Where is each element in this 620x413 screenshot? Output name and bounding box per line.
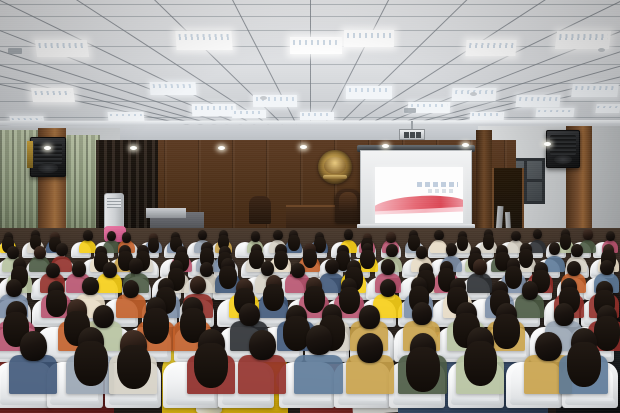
audience-person-head [347,260,361,276]
audience-person-head [597,305,618,328]
audience-person-head [325,259,339,275]
left-wall-speaker [30,137,66,177]
audience-person-head [304,243,316,256]
audience-person-head [456,302,477,325]
audience-person-head [381,259,395,275]
audience-person-head [357,333,383,363]
ceiling-tile-seam [0,4,620,5]
audience-person-head [571,328,597,358]
audience-person-head [412,302,433,325]
audience-person-head [273,230,282,240]
ceiling-sign-box [399,129,425,140]
ceiling-tile-seam [0,83,620,84]
audience-person-head [571,244,583,257]
audience-person-head [289,230,298,240]
light-diffuser [559,34,607,39]
audience-person-head [34,246,46,259]
audience-person-head [266,275,282,293]
ceiling-light-panel [571,84,619,97]
ceiling-light-panel [175,31,232,50]
soffit-downlight [300,145,307,149]
audience-person-head [93,305,114,328]
audience-person-head [122,232,131,242]
audience-person-head [146,297,167,320]
chair-cover-fold [222,398,271,405]
audience-person-head [322,304,343,327]
ceiling-light-panel [300,112,334,120]
audience-person-head [363,233,372,243]
audience-person-head [492,281,508,299]
audience-person-head [458,231,467,241]
sign-segment [404,132,409,138]
audience-person-head [103,262,117,278]
chair-cover-fold [72,255,90,258]
audience-person-head [549,242,561,255]
ceiling-vent [8,48,22,54]
audience-person-head [7,246,19,259]
audience-person-torso [116,294,145,318]
side-chair [249,196,271,224]
audience-person-head [603,244,615,257]
audience-person-head [380,279,396,297]
audience-person-head [344,229,353,239]
audience-person-head [83,230,92,240]
ceiling-light-panel [595,104,620,113]
light-diffuser [302,113,332,115]
soffit-downlight [544,142,551,146]
audience-person-head [78,327,104,357]
audience-person-head [507,258,521,274]
ceiling-light-panel [290,37,342,54]
audience-person-head [67,299,88,322]
audience-person-head [275,244,287,257]
audience-person-head [583,229,592,239]
audience-person-head [286,305,307,328]
ac-vent [107,198,121,208]
audience-person-head [107,231,116,241]
sign-segment [410,132,415,138]
light-diffuser [347,33,391,38]
ceiling-light-panel [470,112,505,120]
light-diffuser [34,91,72,95]
audience-person-head [120,330,146,360]
ceiling-light-panel [346,86,392,99]
audience-person-torso [430,240,447,254]
audience-person-head [359,305,380,328]
audience-person-head [219,246,231,259]
audience-person-head [123,280,139,298]
audience-person-head [6,301,27,324]
audience-person-head [561,278,577,296]
audience-person-head [82,277,98,295]
audience-person-head [535,332,561,362]
light-diffuser [519,97,558,101]
ceiling-light-panel [232,110,266,118]
ceiling-light-panel [31,88,75,102]
chair-cover-fold [393,398,442,405]
national-emblem [318,150,352,184]
audience-person-head [170,260,184,276]
audience-person-head [306,277,322,295]
ceiling-light-panel [35,40,89,57]
audience-person-head [450,278,466,296]
audience-person-head [20,331,46,361]
audience-person-head [95,246,107,259]
audience-person-head [201,242,213,255]
audience-person-head [419,263,433,279]
audience-person-head [182,297,203,320]
audience-person-head [31,230,40,240]
audience-person-head [6,279,22,297]
chair-cover-fold [50,398,99,405]
light-diffuser [472,113,502,115]
light-diffuser [179,34,229,40]
audience-person-head [410,333,436,363]
audience-person-head [261,261,275,277]
audience-person-head [239,303,260,326]
light-diffuser [349,88,390,92]
audience-person-head [4,232,13,242]
audience-person-head [511,231,520,241]
audience-person-head [137,245,149,258]
speaker-woofer [554,155,572,164]
speaker-woofer [38,163,57,173]
chair-back [339,192,358,211]
ceiling-light-panel [535,108,574,117]
audience-person-head [200,262,214,278]
audience-person-head [533,229,542,239]
speaker-side-trim [27,141,33,168]
light-diffuser [469,43,513,48]
auditorium-photo [0,0,620,413]
audience-person-head [341,278,357,296]
chair-cover-fold [282,398,331,405]
chair-cover-fold [338,398,387,405]
chair-cover-fold [109,398,158,405]
audience-person-head [416,246,428,259]
audience-person-head [411,277,427,295]
projected-slide [375,167,463,223]
slide-text-line-1 [417,182,457,187]
emblem-base-bar [323,175,347,178]
audience-person-head [198,329,224,359]
audience-person-head [554,303,575,326]
audience-person-torso [79,240,96,254]
audience-person-head [176,246,188,259]
audience-person-head [119,245,131,258]
audience-person-head [596,281,612,299]
soffit-downlight [462,143,469,147]
chair-cover-fold [166,398,215,405]
chair-cover-fold [565,398,614,405]
audience-person-head [315,232,324,242]
audience-person-head [236,279,252,297]
ceiling-tile-seam [0,16,620,17]
light-diffuser [38,43,84,48]
light-diffuser [12,118,42,121]
audience-person-head [440,261,454,277]
audience-person-torso [238,355,286,394]
audience-person-head [522,281,538,299]
audience-person-head [567,261,581,277]
audience-person-head [158,278,174,296]
audience-person-head [48,281,64,299]
light-diffuser [152,84,193,88]
ceiling-light-panel [465,40,516,56]
smoke-detector-icon [470,92,477,96]
audience-person-head [198,230,207,240]
ceiling-tile-seam [0,30,620,31]
ceiling-light-panel [192,104,237,116]
speaker-grill [550,135,577,156]
audience-person-head [534,262,548,278]
audience-person-head [251,244,263,257]
audience-person-head [446,243,458,256]
light-diffuser [538,110,572,113]
slide-text-line-2 [428,189,454,192]
audience-person-head [409,230,418,240]
smoke-detector-icon [598,48,605,52]
audience-person-head [306,325,332,355]
audience-person-head [434,230,443,240]
light-diffuser [234,111,264,113]
right-wall-speaker [546,130,580,168]
soffit-downlight [44,146,51,150]
ceiling-light-panel [149,82,196,95]
ceiling-light-panel [108,112,145,121]
audience-person-head [171,232,180,242]
podium-top [146,208,186,218]
audience-person-head [470,247,482,260]
soffit-downlight [382,144,389,148]
audience-area [0,228,620,413]
light-diffuser [597,106,619,109]
light-diffuser [293,40,339,45]
light-diffuser [411,104,448,107]
emblem-inner [324,157,346,175]
audience-person-torso [294,355,342,394]
audience-person-head [56,243,68,256]
audience-person-head [46,263,60,279]
audience-person-head [606,231,615,241]
audience-person-head [190,276,206,294]
audience-person-head [50,232,59,242]
chair-cover-fold [429,255,447,258]
ceiling-light-panel [344,30,394,47]
smoke-detector-icon [260,96,267,100]
audience-person-head [600,260,614,276]
chair-cover-fold [510,398,559,405]
audience-person-head [362,243,374,256]
chair-cover-fold [451,398,500,405]
audience-person-head [337,245,349,258]
audience-person-head [473,259,487,275]
audience-person-head [129,258,143,274]
light-diffuser [575,86,616,90]
audience-person-head [13,258,27,274]
sign-segment [416,132,421,138]
audience-person-head [496,245,508,258]
audience-person-head [561,229,570,239]
audience-person-head [467,327,493,357]
audience-person-head [219,230,228,240]
audience-person-head [221,258,235,274]
audience-person-head [149,233,158,243]
audience-person-head [386,232,395,242]
light-diffuser [110,114,142,117]
audience-person-torso [467,273,492,293]
ceiling-light-panel [555,31,611,49]
audience-person-head [484,229,493,239]
audience-person-head [249,330,275,360]
soffit-downlight [218,146,225,150]
judge-chair [335,189,361,223]
ceiling-light-panel [515,95,560,107]
audience-person-head [291,263,305,279]
audience-person-head [386,244,398,257]
audience-person-head [72,261,86,277]
chair-cover-fold [0,398,49,405]
audience-person-head [520,243,532,256]
ceiling-tile-seam [0,64,620,65]
audience-person-head [251,231,260,241]
ceiling-vent [404,108,416,113]
light-diffuser [194,106,233,110]
audience-person-head [496,303,517,326]
soffit-downlight [130,146,137,150]
